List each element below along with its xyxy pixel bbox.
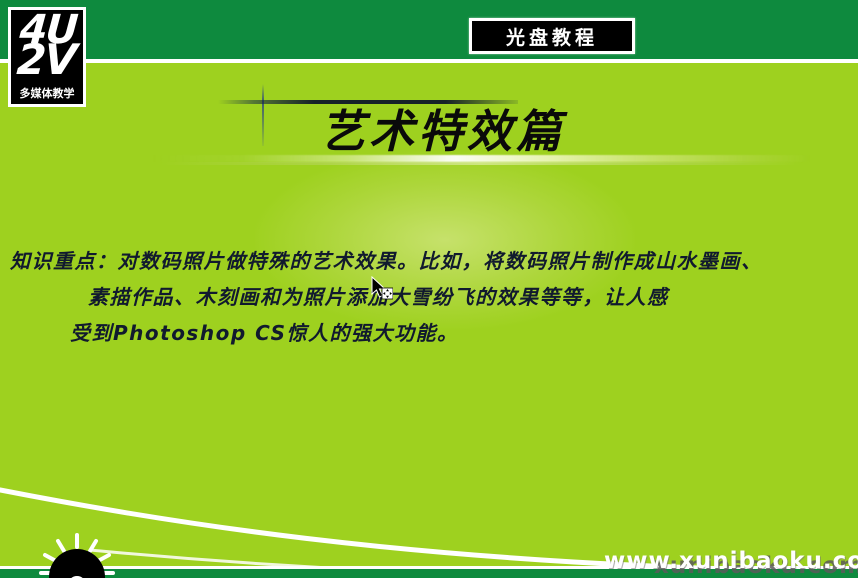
header-plaque-label: 光盘教程	[506, 23, 598, 50]
body-text-block: 知识重点：对数码照片做特殊的艺术效果。比如，将数码照片制作成山水墨画、 素描作品…	[0, 243, 858, 351]
presentation-slide: 4U 2V 多媒体教学 光盘教程 艺术特效篇 知识重点：对数码照片做特殊的艺术效…	[0, 0, 858, 578]
body-line-1: 知识重点：对数码照片做特殊的艺术效果。比如，将数码照片制作成山水墨画、	[0, 243, 858, 279]
body-line-2: 素描作品、木刻画和为照片添加大雪纷飞的效果等等，让人感	[0, 279, 858, 315]
site-watermark: www.xunibaoku.com	[604, 548, 858, 574]
header-plaque: 光盘教程	[469, 18, 635, 54]
header-band	[0, 0, 858, 59]
gear-sun-icon	[38, 533, 116, 578]
title-cross-vertical-icon	[262, 84, 264, 146]
brand-logo-line-2: 2V	[11, 42, 83, 78]
body-line-3: 受到Photoshop CS惊人的强大功能。	[0, 315, 858, 351]
brand-logo-subtitle: 多媒体教学	[11, 85, 83, 101]
title-underline-glow-secondary	[160, 162, 800, 165]
brand-logo: 4U 2V 多媒体教学	[8, 7, 86, 107]
title-underline-glow	[150, 155, 810, 162]
brand-logo-inner: 4U 2V 多媒体教学	[11, 10, 83, 104]
page-title: 艺术特效篇	[320, 95, 565, 160]
brand-logo-mark: 4U 2V	[11, 10, 83, 82]
header-divider-rule	[0, 59, 858, 63]
